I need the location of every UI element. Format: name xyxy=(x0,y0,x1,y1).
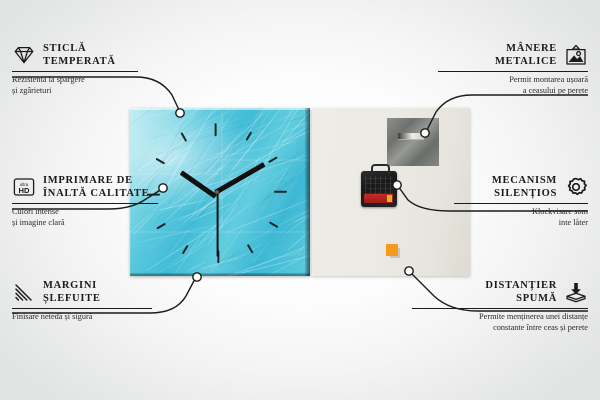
hd-label: HD xyxy=(19,186,30,195)
title-line-2: METALICE xyxy=(495,55,557,68)
clock-tick xyxy=(155,158,165,165)
title-line-1: MECANISM xyxy=(492,174,557,187)
callout-rule xyxy=(438,71,588,72)
beveled-edges-icon xyxy=(12,281,36,303)
hanger-loop xyxy=(371,164,390,175)
sub-line-1: Culori intense xyxy=(12,207,158,218)
diamond-icon xyxy=(12,44,36,66)
clock-tick xyxy=(269,221,279,228)
battery xyxy=(364,194,393,203)
callout-rule xyxy=(12,203,158,204)
sub-line-2: inte låter xyxy=(454,218,588,229)
callout-rule xyxy=(12,71,138,72)
callout-title: DISTANȚIER SPUMĂ xyxy=(485,279,557,305)
sub-line-1: Rezistentă la spargere xyxy=(12,75,138,86)
callout-subtitle: Rezistentă la spargere și zgârieturi xyxy=(12,75,138,96)
clock-mechanism xyxy=(361,171,397,207)
glass-right-edge xyxy=(305,108,310,276)
callout-header: DISTANȚIER SPUMĂ xyxy=(412,279,588,305)
callout-header: MÂNERE METALICE xyxy=(438,42,588,68)
ultra-hd-icon: ultra HD xyxy=(12,176,36,198)
metal-hanger-plate xyxy=(387,118,439,166)
gear-icon xyxy=(564,176,588,198)
callout-hd-print: ultra HD IMPRIMARE DE ÎNALTĂ CALITATE Cu… xyxy=(12,174,158,228)
callout-subtitle: Klockvisare som inte låter xyxy=(454,207,588,228)
clock-back-panel xyxy=(312,108,470,276)
picture-hanger-icon xyxy=(564,44,588,66)
clock-center-pin xyxy=(215,190,219,194)
foam-spacer xyxy=(386,244,398,256)
callout-subtitle: Permite menținerea unei distanțe constan… xyxy=(412,312,588,333)
clock-tick xyxy=(182,245,189,255)
title-line-1: IMPRIMARE DE xyxy=(43,174,149,187)
title-line-2: SPUMĂ xyxy=(485,292,557,305)
sub-line-2: constante între ceas și perete xyxy=(412,323,588,334)
callout-title: IMPRIMARE DE ÎNALTĂ CALITATE xyxy=(43,174,149,200)
title-line-2: SILENȚIOS xyxy=(492,187,557,200)
infographic-stage: STICLĂ TEMPERATĂ Rezistentă la spargere … xyxy=(0,0,600,400)
callout-rule xyxy=(412,308,588,309)
callout-subtitle: Culori intense și imagine clară xyxy=(12,207,158,228)
callout-subtitle: Finisare netedă și sigură xyxy=(12,312,152,323)
mechanism-texture xyxy=(365,176,393,194)
callout-title: STICLĂ TEMPERATĂ xyxy=(43,42,116,68)
title-line-1: STICLĂ xyxy=(43,42,116,55)
clock-tick xyxy=(274,191,287,193)
title-line-2: ÎNALTĂ CALITATE xyxy=(43,187,149,200)
sub-line-2: și imagine clară xyxy=(12,218,158,229)
sub-line-1: Klockvisare som xyxy=(454,207,588,218)
title-line-1: MARGINI xyxy=(43,279,101,292)
callout-header: MARGINI ȘLEFUITE xyxy=(12,279,152,305)
callout-title: MECANISM SILENȚIOS xyxy=(492,174,557,200)
callout-header: STICLĂ TEMPERATĂ xyxy=(12,42,138,68)
clock-second-hand xyxy=(217,193,219,257)
foam-spacer-icon xyxy=(564,281,588,303)
product-image xyxy=(130,108,470,276)
callout-title: MARGINI ȘLEFUITE xyxy=(43,279,101,305)
callout-rule xyxy=(454,203,588,204)
glass-bottom-edge xyxy=(130,273,310,276)
title-line-1: DISTANȚIER xyxy=(485,279,557,292)
clock-tick xyxy=(268,156,278,163)
clock-minute-hand xyxy=(215,162,266,194)
sub-line-1: Permite menținerea unei distanțe xyxy=(412,312,588,323)
callout-rule xyxy=(12,308,152,309)
clock-tick xyxy=(215,123,217,136)
callout-foam-spacer: DISTANȚIER SPUMĂ Permite menținerea unei… xyxy=(412,279,588,333)
title-line-1: MÂNERE xyxy=(495,42,557,55)
sub-line-2: și zgârieturi xyxy=(12,86,138,97)
callout-header: MECANISM SILENȚIOS xyxy=(454,174,588,200)
callout-header: ultra HD IMPRIMARE DE ÎNALTĂ CALITATE xyxy=(12,174,158,200)
title-line-2: ȘLEFUITE xyxy=(43,292,101,305)
clock-tick xyxy=(245,131,252,141)
sub-line-2: a ceasului pe perete xyxy=(438,86,588,97)
sub-line-1: Finisare netedă și sigură xyxy=(12,312,152,323)
callout-silent-mechanism: MECANISM SILENȚIOS Klockvisare som inte … xyxy=(454,174,588,228)
hanger-slot xyxy=(398,133,424,139)
clock-tick xyxy=(247,244,254,254)
callout-title: MÂNERE METALICE xyxy=(495,42,557,68)
callout-metal-handles: MÂNERE METALICE Permit montarea ușoară a… xyxy=(438,42,588,96)
callout-tempered-glass: STICLĂ TEMPERATĂ Rezistentă la spargere … xyxy=(12,42,138,96)
clock-hour-hand xyxy=(180,170,217,198)
clock-tick xyxy=(180,132,187,142)
callout-subtitle: Permit montarea ușoară a ceasului pe per… xyxy=(438,75,588,96)
callout-polished-edges: MARGINI ȘLEFUITE Finisare netedă și sigu… xyxy=(12,279,152,323)
sub-line-1: Permit montarea ușoară xyxy=(438,75,588,86)
title-line-2: TEMPERATĂ xyxy=(43,55,116,68)
